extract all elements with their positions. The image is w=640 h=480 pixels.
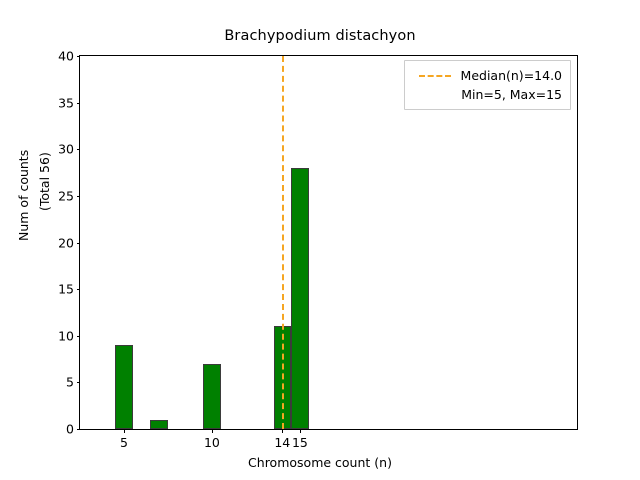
- figure-canvas: Brachypodium distachyon Num of counts (T…: [0, 0, 640, 480]
- x-tick-label: 14: [274, 435, 290, 450]
- x-tick-label: 5: [120, 435, 128, 450]
- bar: [291, 168, 309, 429]
- x-axis-label: Chromosome count (n): [0, 455, 640, 470]
- x-tick-mark: [300, 429, 301, 433]
- y-tick-label: 30: [58, 142, 74, 157]
- y-tick-label: 25: [58, 188, 74, 203]
- y-axis-label: Num of counts: [16, 150, 31, 241]
- y-tick-mark: [77, 243, 81, 244]
- bar: [115, 345, 133, 429]
- y-tick-mark: [77, 196, 81, 197]
- y-tick-label: 35: [58, 95, 74, 110]
- legend-label-minmax: Min=5, Max=15: [461, 87, 562, 102]
- chart-title: Brachypodium distachyon: [0, 28, 640, 44]
- y-tick-label: 5: [66, 375, 74, 390]
- x-tick-label: 15: [292, 435, 308, 450]
- legend-label-median: Median(n)=14.0: [461, 68, 562, 83]
- x-tick-mark: [124, 429, 125, 433]
- y-tick-mark: [77, 289, 81, 290]
- y-tick-label: 40: [58, 49, 74, 64]
- dashed-line-swatch-icon: [419, 75, 451, 77]
- x-tick-mark: [282, 429, 283, 433]
- y-tick-mark: [77, 103, 81, 104]
- bar: [203, 364, 221, 429]
- y-tick-mark: [77, 56, 81, 57]
- y-tick-mark: [77, 429, 81, 430]
- y-tick-label: 10: [58, 328, 74, 343]
- x-tick-mark: [212, 429, 213, 433]
- median-vline: [282, 56, 284, 429]
- legend-entry-median: Median(n)=14.0: [412, 66, 562, 85]
- y-tick-label: 15: [58, 282, 74, 297]
- chart-legend: Median(n)=14.0 Min=5, Max=15: [404, 60, 571, 110]
- x-tick-label: 10: [204, 435, 220, 450]
- y-tick-mark: [77, 336, 81, 337]
- plot-inner: [80, 56, 577, 429]
- y-tick-mark: [77, 382, 81, 383]
- y-axis-total-label: (Total 56): [37, 152, 52, 211]
- y-tick-label: 0: [66, 422, 74, 437]
- y-tick-mark: [77, 149, 81, 150]
- legend-entry-minmax: Min=5, Max=15: [412, 85, 562, 104]
- y-tick-label: 20: [58, 235, 74, 250]
- bar: [150, 420, 168, 429]
- plot-area: 05101520253035405101415: [79, 55, 578, 430]
